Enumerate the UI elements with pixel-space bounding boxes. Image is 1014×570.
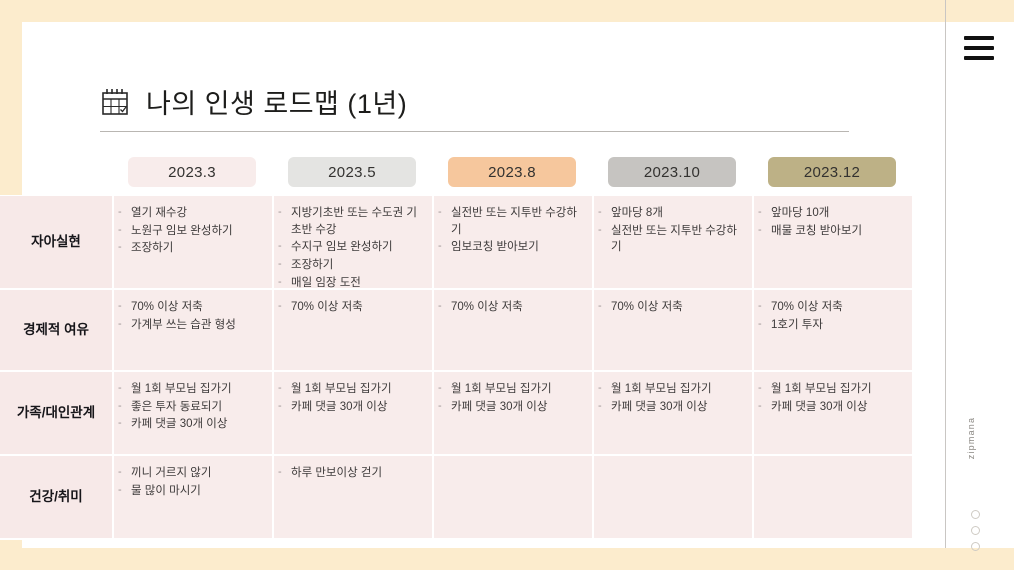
- bullet-dash: -: [438, 399, 451, 416]
- list-item-text: 열기 재수강: [131, 205, 264, 222]
- hamburger-bar-1: [964, 36, 994, 40]
- bullet-dash: -: [598, 299, 611, 316]
- bullet-dash: -: [438, 299, 451, 316]
- goal-list: -월 1회 부모님 집가기-카페 댓글 30개 이상: [438, 381, 584, 415]
- bullet-dash: -: [118, 205, 131, 222]
- brand-dot: [971, 526, 980, 535]
- cell-r4-c2[interactable]: -하루 만보이상 걷기: [272, 456, 432, 540]
- goal-list: -월 1회 부모님 집가기-카페 댓글 30개 이상: [758, 381, 904, 415]
- column-header-pill[interactable]: 2023.3: [128, 157, 256, 187]
- list-item-text: 70% 이상 저축: [291, 299, 424, 316]
- cell-r2-c5[interactable]: -70% 이상 저축-1호기 투자: [752, 290, 912, 372]
- brand-dot: [971, 510, 980, 519]
- column-header-pill[interactable]: 2023.10: [608, 157, 736, 187]
- bullet-dash: -: [278, 399, 291, 416]
- list-item: -물 많이 마시기: [118, 483, 264, 500]
- list-item-text: 매물 코칭 받아보기: [771, 223, 904, 240]
- list-item-text: 실전반 또는 지투반 수강하기: [611, 223, 744, 256]
- list-item-text: 70% 이상 저축: [771, 299, 904, 316]
- cell-r3-c2[interactable]: -월 1회 부모님 집가기-카페 댓글 30개 이상: [272, 372, 432, 456]
- list-item: -매물 코칭 받아보기: [758, 223, 904, 240]
- bullet-dash: -: [118, 223, 131, 240]
- list-item-text: 월 1회 부모님 집가기: [611, 381, 744, 398]
- list-item: -조장하기: [278, 257, 424, 274]
- goal-list: -70% 이상 저축: [598, 299, 744, 316]
- page-title: 나의 인생 로드맵 (1년): [146, 82, 407, 121]
- list-item: -70% 이상 저축: [598, 299, 744, 316]
- list-item: -하루 만보이상 걷기: [278, 465, 424, 482]
- list-item-text: 카페 댓글 30개 이상: [611, 399, 744, 416]
- column-header-pill[interactable]: 2023.12: [768, 157, 896, 187]
- goal-list: -월 1회 부모님 집가기-카페 댓글 30개 이상: [598, 381, 744, 415]
- cell-r3-c3[interactable]: -월 1회 부모님 집가기-카페 댓글 30개 이상: [432, 372, 592, 456]
- cell-r2-c1[interactable]: -70% 이상 저축-가계부 쓰는 습관 형성: [112, 290, 272, 372]
- column-header-pill[interactable]: 2023.5: [288, 157, 416, 187]
- list-item-text: 앞마당 10개: [771, 205, 904, 222]
- list-item-text: 월 1회 부모님 집가기: [451, 381, 584, 398]
- list-item-text: 70% 이상 저축: [451, 299, 584, 316]
- goal-list: -앞마당 10개-매물 코칭 받아보기: [758, 205, 904, 239]
- brand-watermark: zipmana: [966, 448, 990, 512]
- right-vertical-divider: [945, 0, 946, 548]
- list-item-text: 카페 댓글 30개 이상: [131, 416, 264, 433]
- list-item: -카페 댓글 30개 이상: [598, 399, 744, 416]
- bullet-dash: -: [278, 299, 291, 316]
- goal-list: -월 1회 부모님 집가기-좋은 투자 동료되기-카페 댓글 30개 이상: [118, 381, 264, 433]
- goal-list: -열기 재수강-노원구 임보 완성하기-조장하기: [118, 205, 264, 257]
- column-header-5: 2023.12: [752, 157, 912, 187]
- list-item: -노원구 임보 완성하기: [118, 223, 264, 240]
- brand-name: zipmana: [966, 406, 988, 470]
- cell-r1-c5[interactable]: -앞마당 10개-매물 코칭 받아보기: [752, 196, 912, 290]
- list-item-text: 매일 임장 도전: [291, 275, 424, 292]
- list-item: -지방기초반 또는 수도권 기초반 수강: [278, 205, 424, 238]
- column-header-pill[interactable]: 2023.8: [448, 157, 576, 187]
- list-item-text: 1호기 투자: [771, 317, 904, 334]
- list-item-text: 가계부 쓰는 습관 형성: [131, 317, 264, 334]
- goal-list: -70% 이상 저축: [278, 299, 424, 316]
- row-label-4: 건강/취미: [0, 456, 112, 540]
- list-item: -월 1회 부모님 집가기: [598, 381, 744, 398]
- list-item-text: 노원구 임보 완성하기: [131, 223, 264, 240]
- bullet-dash: -: [278, 465, 291, 482]
- bullet-dash: -: [758, 399, 771, 416]
- bullet-dash: -: [438, 205, 451, 238]
- list-item: -카페 댓글 30개 이상: [118, 416, 264, 433]
- list-item: -가계부 쓰는 습관 형성: [118, 317, 264, 334]
- goal-list: -월 1회 부모님 집가기-카페 댓글 30개 이상: [278, 381, 424, 415]
- bullet-dash: -: [118, 240, 131, 257]
- column-header-2: 2023.5: [272, 157, 432, 187]
- list-item: -좋은 투자 동료되기: [118, 399, 264, 416]
- bullet-dash: -: [438, 381, 451, 398]
- cell-r3-c5[interactable]: -월 1회 부모님 집가기-카페 댓글 30개 이상: [752, 372, 912, 456]
- presentation-slide: zipmana 나의 인생 로드맵 (1년) 2023.32023.52023.…: [0, 0, 1014, 570]
- list-item: -카페 댓글 30개 이상: [278, 399, 424, 416]
- column-header-4: 2023.10: [592, 157, 752, 187]
- list-item: -앞마당 8개: [598, 205, 744, 222]
- bullet-dash: -: [118, 416, 131, 433]
- list-item: -월 1회 부모님 집가기: [118, 381, 264, 398]
- list-item: -매일 임장 도전: [278, 275, 424, 292]
- list-item: -앞마당 10개: [758, 205, 904, 222]
- goal-list: -70% 이상 저축: [438, 299, 584, 316]
- bullet-dash: -: [758, 317, 771, 334]
- list-item: -카페 댓글 30개 이상: [438, 399, 584, 416]
- goal-list: -70% 이상 저축-가계부 쓰는 습관 형성: [118, 299, 264, 333]
- list-item-text: 월 1회 부모님 집가기: [131, 381, 264, 398]
- cell-r1-c3[interactable]: -실전반 또는 지투반 수강하기-임보코칭 받아보기: [432, 196, 592, 290]
- list-item-text: 카페 댓글 30개 이상: [771, 399, 904, 416]
- bullet-dash: -: [278, 275, 291, 292]
- list-item-text: 조장하기: [131, 240, 264, 257]
- list-item-text: 70% 이상 저축: [131, 299, 264, 316]
- list-item-text: 앞마당 8개: [611, 205, 744, 222]
- list-item: -끼니 거르지 않기: [118, 465, 264, 482]
- list-item-text: 좋은 투자 동료되기: [131, 399, 264, 416]
- list-item: -열기 재수강: [118, 205, 264, 222]
- list-item: -70% 이상 저축: [278, 299, 424, 316]
- table-row: 건강/취미-끼니 거르지 않기-물 많이 마시기-하루 만보이상 걷기: [0, 456, 916, 540]
- list-item: -70% 이상 저축: [758, 299, 904, 316]
- hamburger-menu-icon[interactable]: [964, 36, 994, 60]
- bullet-dash: -: [118, 483, 131, 500]
- title-underline: [100, 131, 849, 132]
- cell-r2-c4[interactable]: -70% 이상 저축: [592, 290, 752, 372]
- bullet-dash: -: [438, 239, 451, 256]
- goal-list: -끼니 거르지 않기-물 많이 마시기: [118, 465, 264, 499]
- goal-list: -지방기초반 또는 수도권 기초반 수강-수지구 임보 완성하기-조장하기-매일…: [278, 205, 424, 291]
- list-item: -70% 이상 저축: [118, 299, 264, 316]
- row-label-3: 가족/대인관계: [0, 372, 112, 456]
- bullet-dash: -: [758, 205, 771, 222]
- table-row: 자아실현-열기 재수강-노원구 임보 완성하기-조장하기-지방기초반 또는 수도…: [0, 196, 916, 290]
- cell-r3-c1[interactable]: -월 1회 부모님 집가기-좋은 투자 동료되기-카페 댓글 30개 이상: [112, 372, 272, 456]
- cell-r3-c4[interactable]: -월 1회 부모님 집가기-카페 댓글 30개 이상: [592, 372, 752, 456]
- bullet-dash: -: [278, 381, 291, 398]
- cell-r2-c3[interactable]: -70% 이상 저축: [432, 290, 592, 372]
- bullet-dash: -: [278, 239, 291, 256]
- bullet-dash: -: [758, 223, 771, 240]
- list-item: -카페 댓글 30개 이상: [758, 399, 904, 416]
- cell-r4-c1[interactable]: -끼니 거르지 않기-물 많이 마시기: [112, 456, 272, 540]
- bullet-dash: -: [758, 381, 771, 398]
- bullet-dash: -: [758, 299, 771, 316]
- cell-r4-c5[interactable]: [752, 456, 912, 540]
- list-item-text: 지방기초반 또는 수도권 기초반 수강: [291, 205, 424, 238]
- bullet-dash: -: [598, 223, 611, 256]
- page-heading: 나의 인생 로드맵 (1년): [100, 82, 850, 121]
- brand-dots: [971, 510, 980, 551]
- bullet-dash: -: [598, 381, 611, 398]
- goal-list: -실전반 또는 지투반 수강하기-임보코칭 받아보기: [438, 205, 584, 256]
- list-item-text: 끼니 거르지 않기: [131, 465, 264, 482]
- table-row: 경제적 여유-70% 이상 저축-가계부 쓰는 습관 형성-70% 이상 저축-…: [0, 290, 916, 372]
- list-item-text: 월 1회 부모님 집가기: [291, 381, 424, 398]
- list-item: -월 1회 부모님 집가기: [278, 381, 424, 398]
- roadmap-table: 2023.32023.52023.82023.102023.12 자아실현-열기…: [0, 152, 916, 540]
- bullet-dash: -: [598, 205, 611, 222]
- column-header-1: 2023.3: [112, 157, 272, 187]
- row-label-1: 자아실현: [0, 196, 112, 290]
- bullet-dash: -: [278, 257, 291, 274]
- cell-r1-c2[interactable]: -지방기초반 또는 수도권 기초반 수강-수지구 임보 완성하기-조장하기-매일…: [272, 196, 432, 290]
- list-item-text: 조장하기: [291, 257, 424, 274]
- column-header-3: 2023.8: [432, 157, 592, 187]
- list-item: -실전반 또는 지투반 수강하기: [598, 223, 744, 256]
- bullet-dash: -: [118, 465, 131, 482]
- goal-list: -하루 만보이상 걷기: [278, 465, 424, 482]
- list-item-text: 카페 댓글 30개 이상: [291, 399, 424, 416]
- cell-r1-c1[interactable]: -열기 재수강-노원구 임보 완성하기-조장하기: [112, 196, 272, 290]
- calendar-icon: [100, 87, 130, 117]
- list-item-text: 70% 이상 저축: [611, 299, 744, 316]
- row-label-2: 경제적 여유: [0, 290, 112, 372]
- cell-r2-c2[interactable]: -70% 이상 저축: [272, 290, 432, 372]
- list-item-text: 물 많이 마시기: [131, 483, 264, 500]
- list-item: -1호기 투자: [758, 317, 904, 334]
- cell-r4-c4[interactable]: [592, 456, 752, 540]
- list-item-text: 카페 댓글 30개 이상: [451, 399, 584, 416]
- table-body: 자아실현-열기 재수강-노원구 임보 완성하기-조장하기-지방기초반 또는 수도…: [0, 195, 916, 540]
- list-item: -조장하기: [118, 240, 264, 257]
- list-item-text: 수지구 임보 완성하기: [291, 239, 424, 256]
- table-row: 가족/대인관계-월 1회 부모님 집가기-좋은 투자 동료되기-카페 댓글 30…: [0, 372, 916, 456]
- hamburger-bar-3: [964, 56, 994, 60]
- goal-list: -앞마당 8개-실전반 또는 지투반 수강하기: [598, 205, 744, 256]
- cell-r1-c4[interactable]: -앞마당 8개-실전반 또는 지투반 수강하기: [592, 196, 752, 290]
- list-item: -임보코칭 받아보기: [438, 239, 584, 256]
- bullet-dash: -: [118, 299, 131, 316]
- bullet-dash: -: [118, 399, 131, 416]
- list-item-text: 하루 만보이상 걷기: [291, 465, 424, 482]
- bullet-dash: -: [598, 399, 611, 416]
- list-item: -월 1회 부모님 집가기: [758, 381, 904, 398]
- cell-r4-c3[interactable]: [432, 456, 592, 540]
- list-item: -실전반 또는 지투반 수강하기: [438, 205, 584, 238]
- goal-list: -70% 이상 저축-1호기 투자: [758, 299, 904, 333]
- brand-dot: [971, 542, 980, 551]
- hamburger-bar-2: [964, 46, 994, 50]
- list-item-text: 월 1회 부모님 집가기: [771, 381, 904, 398]
- list-item-text: 실전반 또는 지투반 수강하기: [451, 205, 584, 238]
- bullet-dash: -: [278, 205, 291, 238]
- list-item: -70% 이상 저축: [438, 299, 584, 316]
- list-item-text: 임보코칭 받아보기: [451, 239, 584, 256]
- list-item: -수지구 임보 완성하기: [278, 239, 424, 256]
- table-column-headers: 2023.32023.52023.82023.102023.12: [0, 152, 916, 192]
- list-item: -월 1회 부모님 집가기: [438, 381, 584, 398]
- bullet-dash: -: [118, 381, 131, 398]
- bullet-dash: -: [118, 317, 131, 334]
